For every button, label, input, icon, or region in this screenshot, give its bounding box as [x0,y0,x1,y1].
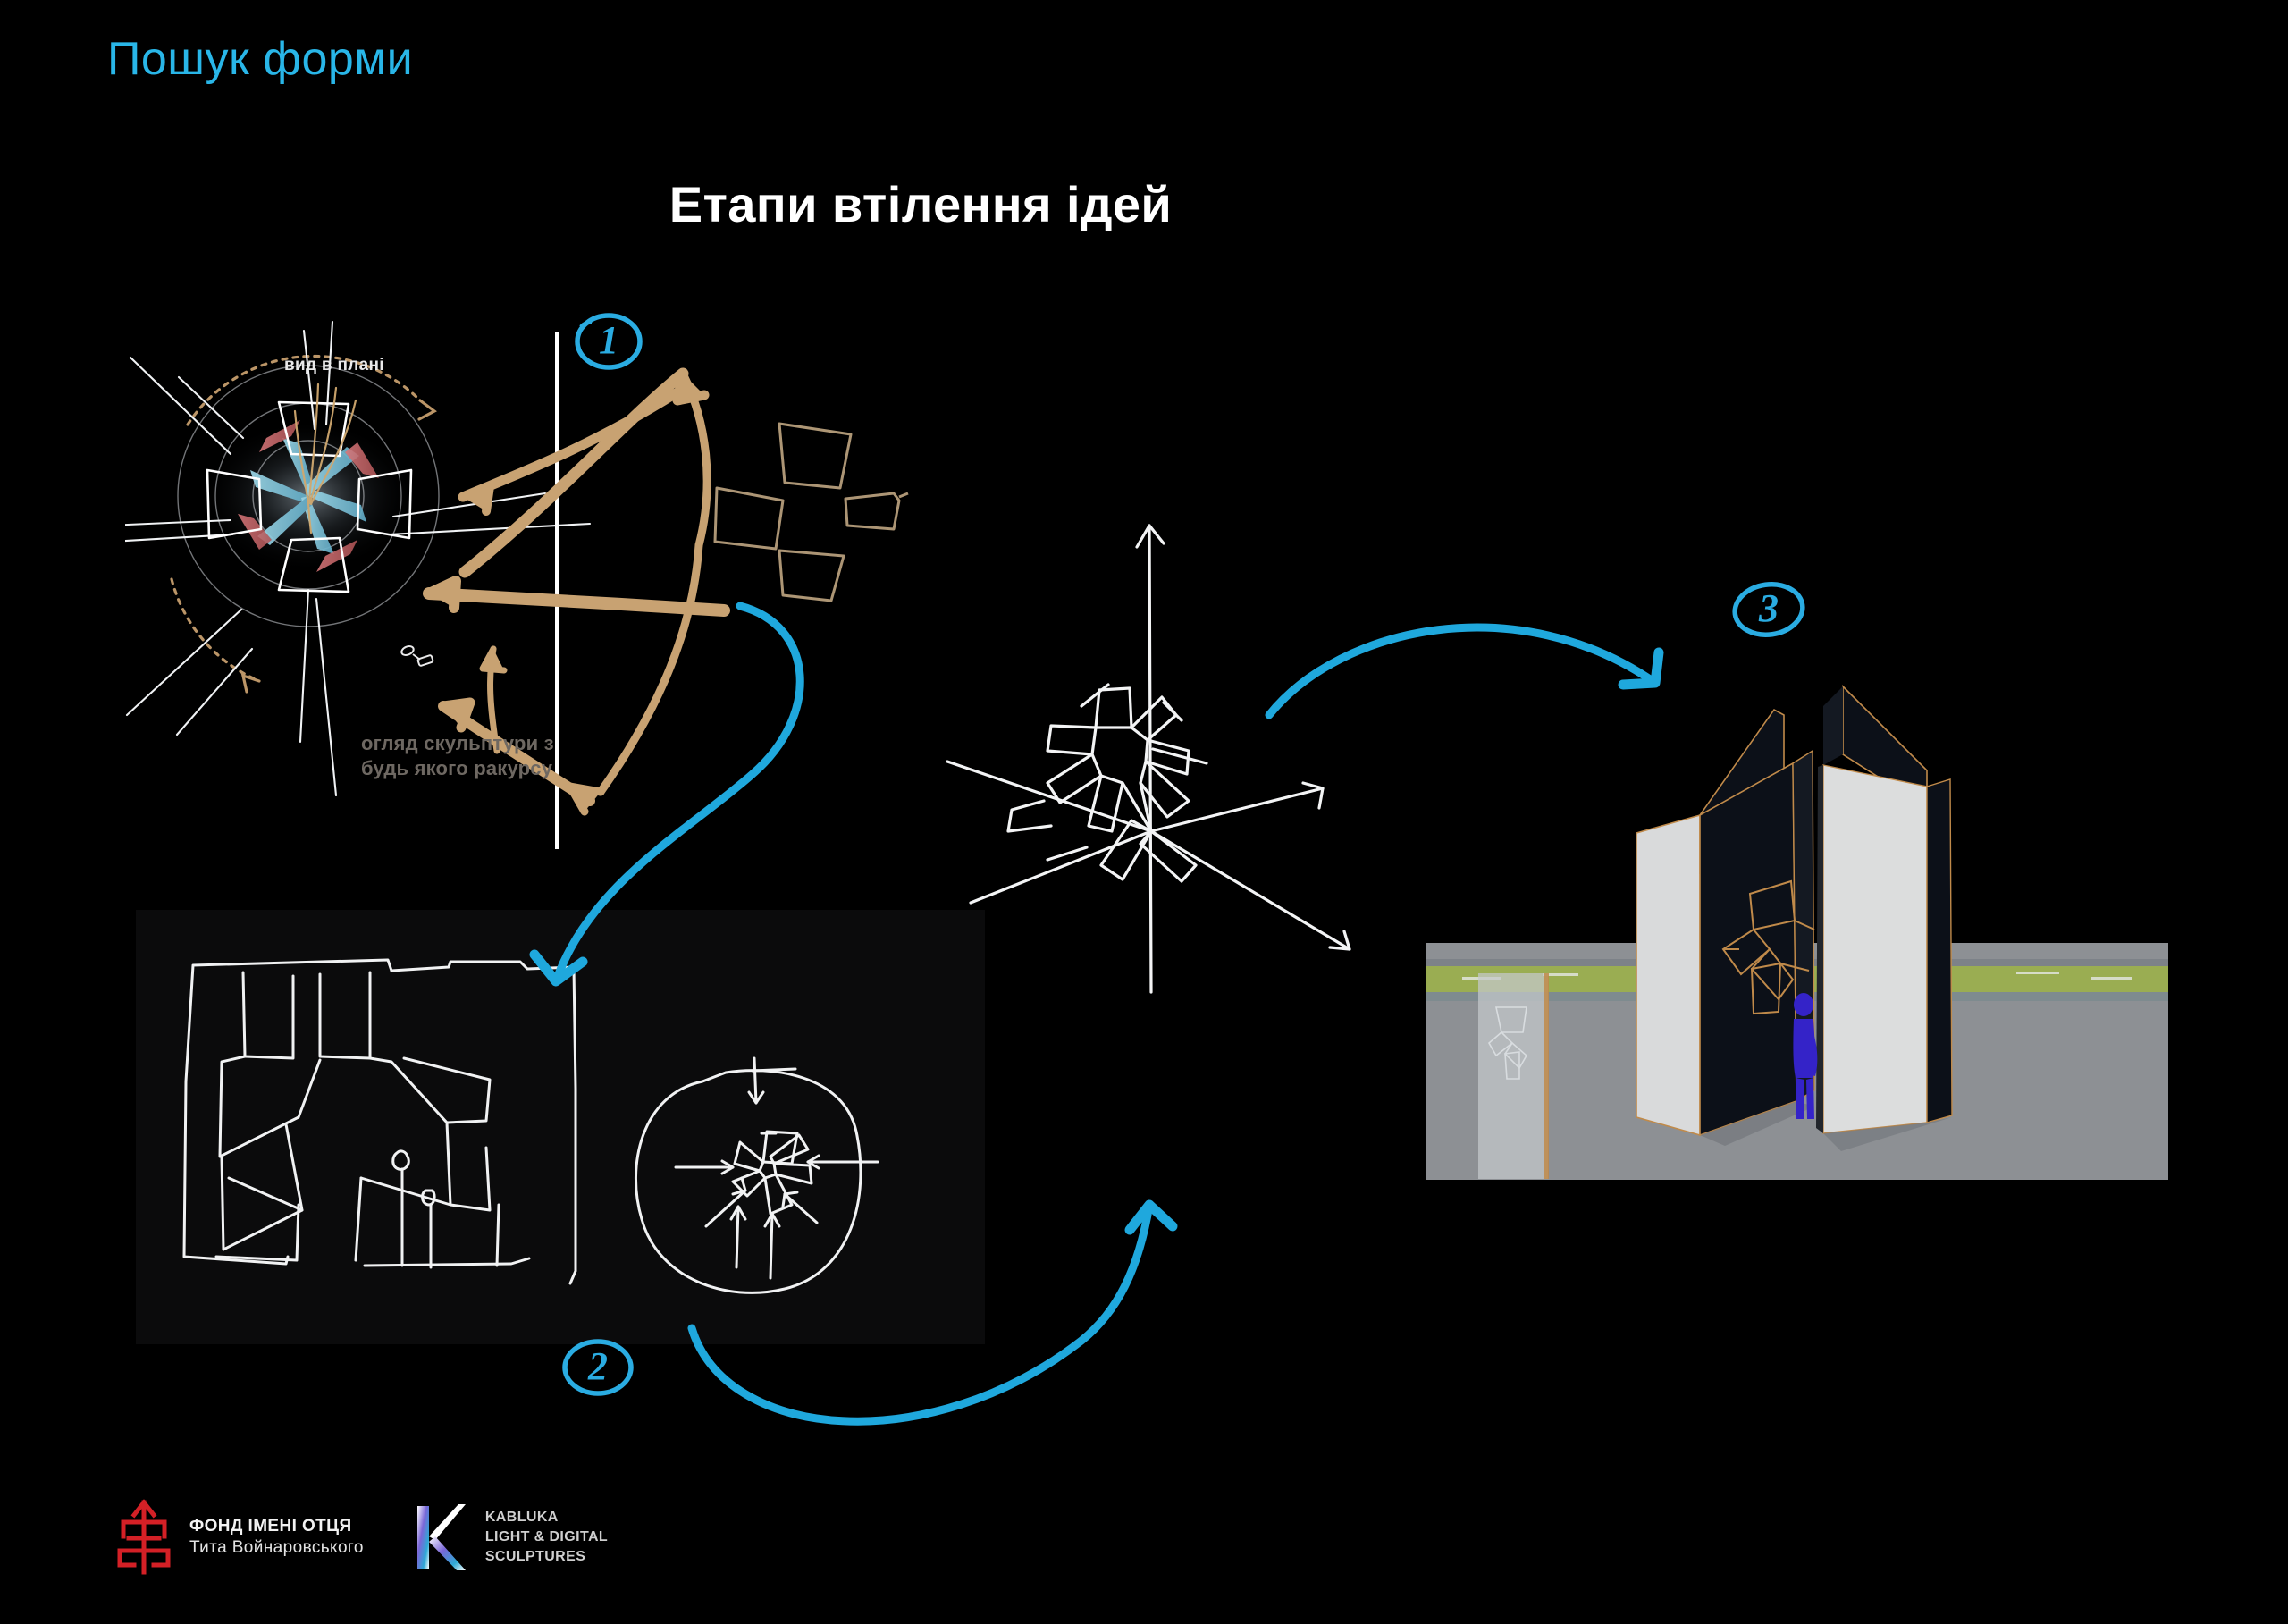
stage-marker-2: 2 [559,1334,636,1401]
header-title: Пошук форми [107,32,413,86]
kabluka-logo-line1: KABLUKA [485,1508,608,1527]
kabluka-logo: KABLUKA LIGHT & DIGITAL SCULPTURES [414,1501,608,1574]
stage-marker-1-label: 1 [570,306,647,374]
label-plan-view: вид в плані [284,356,384,375]
fund-logo-text: ФОНД ІМЕНІ ОТЦЯ Тита Войнаровського [189,1517,364,1558]
stage-marker-3: 3 [1730,576,1807,644]
fund-logo-line1: ФОНД ІМЕНІ ОТЦЯ [189,1517,364,1536]
slide-canvas: Пошук форми Етапи втілення ідей [0,0,2288,1624]
label-any-angle-line1: огляд скульптури з [361,732,554,754]
kabluka-logo-text: KABLUKA LIGHT & DIGITAL SCULPTURES [485,1508,608,1567]
trident-icon [114,1499,173,1576]
kabluka-logo-line3: SCULPTURES [485,1547,608,1567]
sculpture-render-icon [1426,943,2168,1180]
stage-marker-3-label: 3 [1730,574,1807,642]
stage-3-render [1426,943,2168,1180]
page-title: Етапи втілення ідей [0,175,2288,233]
arrow-center-to-stage3 [1269,627,1655,715]
label-any-angle-line2: будь якого ракурсу [361,757,552,779]
stage-marker-1: 1 [570,307,647,375]
page-title-text: Етапи втілення ідей [669,175,1173,233]
k-icon [414,1501,469,1574]
fund-logo: ФОНД ІМЕНІ ОТЦЯ Тита Войнаровського [114,1499,364,1576]
fund-logo-line2: Тита Войнаровського [189,1538,364,1558]
kabluka-logo-line2: LIGHT & DIGITAL [485,1527,608,1547]
stage-2-hand-sketch [136,910,985,1344]
label-any-angle: огляд скульптури з будь якого ракурсу [361,731,554,780]
footer: ФОНД ІМЕНІ ОТЦЯ Тита Войнаровського [114,1499,608,1576]
stage-marker-2-label: 2 [559,1332,636,1400]
hand-sketch-icon [136,910,985,1344]
